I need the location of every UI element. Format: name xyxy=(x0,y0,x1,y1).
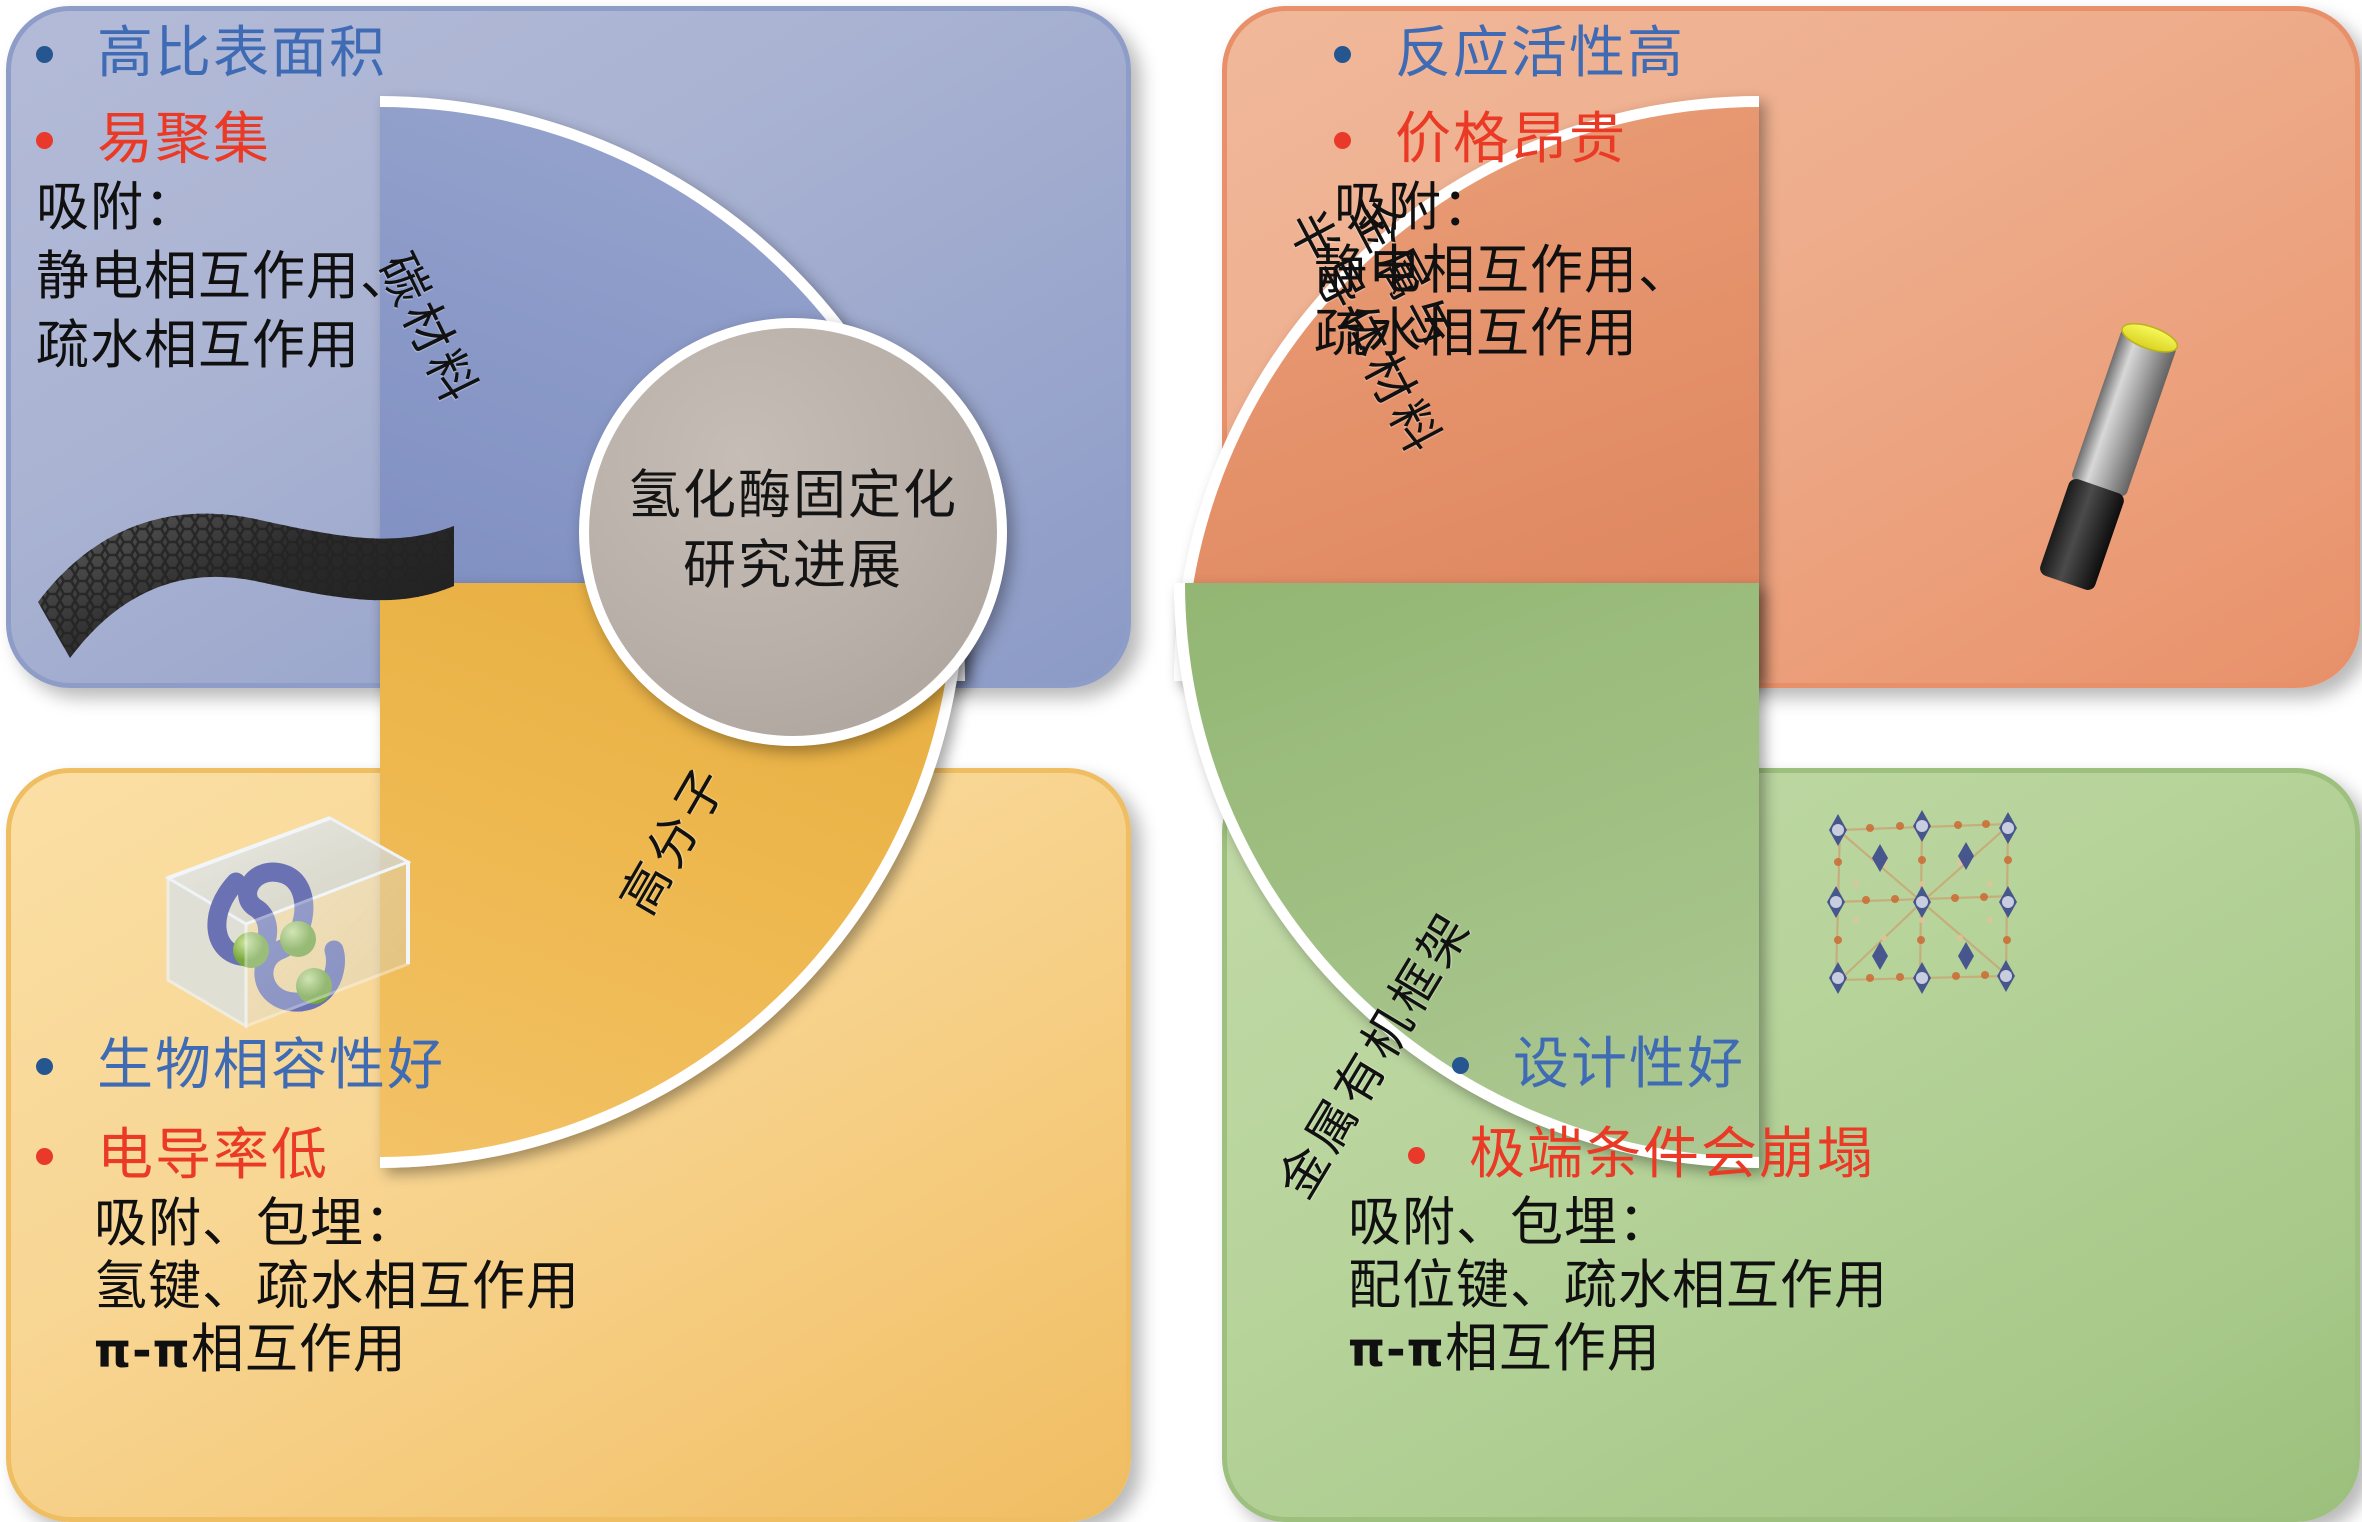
bullets-polymer: 生物相容性好 电导率低 吸附、包埋： 氢键、疏水相互作用 π-π相互作用 xyxy=(36,1036,580,1382)
bullet-row-pro-mof: 设计性好 xyxy=(1408,1035,1888,1095)
bullet-row-pro-carbon: 高比表面积 xyxy=(36,24,414,84)
bullets-carbon: 高比表面积 易聚集 吸附： 静电相互作用、 疏水相互作用 xyxy=(36,24,414,378)
bullet-pro-metal: 反应活性高 xyxy=(1395,24,1685,84)
bullet-con-carbon: 易聚集 xyxy=(97,110,271,170)
detail-mof-1: 配位键、疏水相互作用 xyxy=(1348,1255,1888,1318)
bullets-mof: 设计性好 极端条件会崩塌 吸附、包埋： 配位键、疏水相互作用 π-π相互作用 xyxy=(1408,1035,1888,1381)
detail-polymer-2: π-π相互作用 xyxy=(36,1319,580,1382)
bullet-dot-con-icon xyxy=(1408,1147,1425,1164)
bullet-row-con-metal: 价格昂贵 xyxy=(1256,110,1692,170)
bullet-dot-pro-icon xyxy=(36,1058,53,1075)
bullet-con-mof: 极端条件会崩塌 xyxy=(1469,1125,1875,1185)
bullet-dot-pro-icon xyxy=(36,46,53,63)
detail-carbon-2: 疏水相互作用 xyxy=(36,315,414,378)
detail-carbon-0: 吸附： xyxy=(36,177,414,240)
center-title-line2: 研究进展 xyxy=(628,532,958,602)
bullet-dot-pro-icon xyxy=(1452,1057,1469,1074)
bullet-dot-con-icon xyxy=(36,132,53,149)
bullet-row-con-polymer: 电导率低 xyxy=(36,1126,580,1186)
diagram-canvas: 碳材料 金属与 半导体材料 高分子 金属有机框架 氢化酶固定化 研究进展 高比表… xyxy=(0,0,2362,1518)
bullet-row-con-carbon: 易聚集 xyxy=(36,110,414,170)
mof-lattice-icon xyxy=(1800,790,2050,1020)
detail-carbon-1: 静电相互作用、 xyxy=(36,246,414,309)
detail-mof-0: 吸附、包埋： xyxy=(1348,1192,1888,1255)
gold-electrode-icon xyxy=(1990,300,2230,610)
bullet-pro-carbon: 高比表面积 xyxy=(97,24,387,84)
graphene-sheet-icon xyxy=(30,490,460,705)
center-title-line1: 氢化酶固定化 xyxy=(628,462,958,532)
detail-metal-2: 疏水相互作用 xyxy=(1256,303,1692,366)
center-hub[interactable]: 氢化酶固定化 研究进展 xyxy=(579,318,1007,746)
bullet-row-pro-metal: 反应活性高 xyxy=(1256,24,1692,84)
bullet-con-metal: 价格昂贵 xyxy=(1395,110,1627,170)
bullet-con-polymer: 电导率低 xyxy=(97,1126,329,1186)
bullet-pro-mof: 设计性好 xyxy=(1513,1035,1745,1095)
bullet-row-pro-polymer: 生物相容性好 xyxy=(36,1036,580,1096)
detail-polymer-1: 氢键、疏水相互作用 xyxy=(36,1256,580,1319)
detail-metal-1: 静电相互作用、 xyxy=(1256,240,1692,303)
bullet-dot-con-icon xyxy=(1334,132,1351,149)
detail-metal-0: 吸附： xyxy=(1256,177,1692,240)
detail-mof-2: π-π相互作用 xyxy=(1348,1318,1888,1381)
detail-polymer-0: 吸附、包埋： xyxy=(36,1193,580,1256)
bullet-row-con-mof: 极端条件会崩塌 xyxy=(1408,1125,1888,1185)
bullet-dot-con-icon xyxy=(36,1148,53,1165)
bullets-metal: 反应活性高 价格昂贵 吸附： 静电相互作用、 疏水相互作用 xyxy=(1256,24,1692,366)
bullet-pro-polymer: 生物相容性好 xyxy=(97,1036,445,1096)
bullet-dot-pro-icon xyxy=(1334,46,1351,63)
center-hub-text: 氢化酶固定化 研究进展 xyxy=(628,462,958,602)
